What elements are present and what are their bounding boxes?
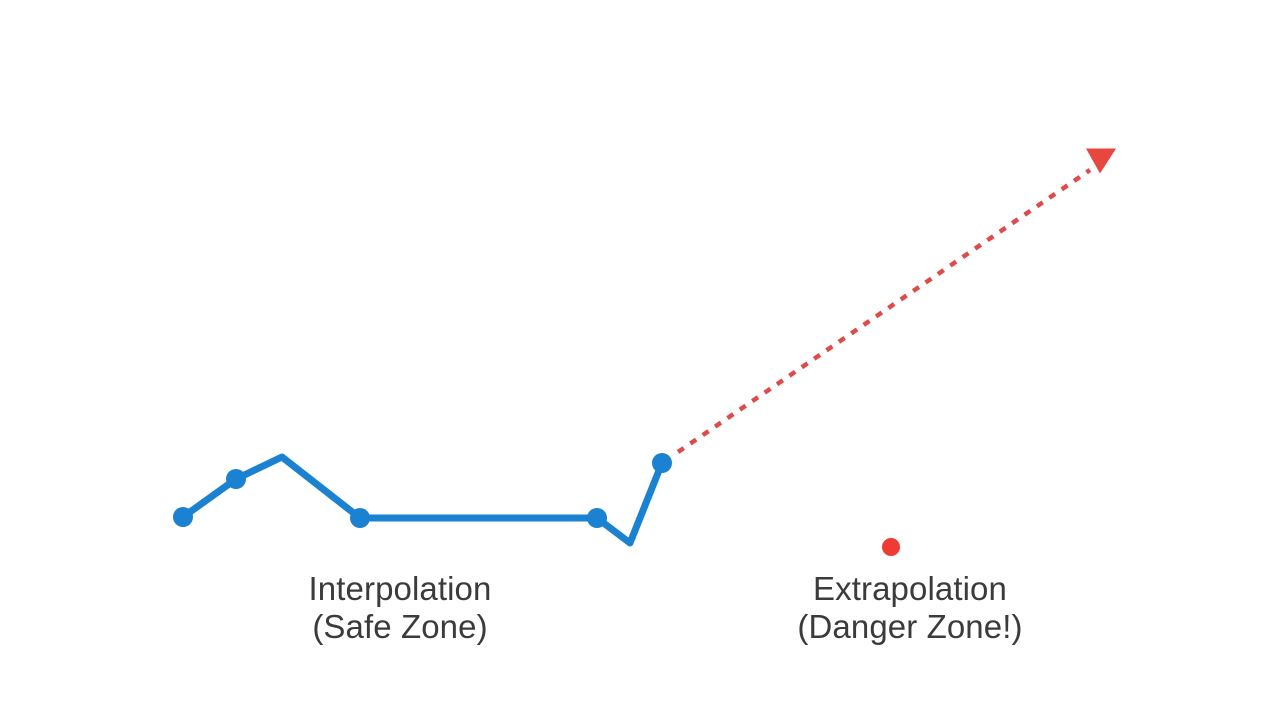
- observed-data-point: [652, 453, 672, 473]
- forecast-trend-dashed-line: [678, 170, 1090, 452]
- observed-data-point: [350, 508, 370, 528]
- extrapolation-label-line1: Extrapolation: [710, 570, 1110, 608]
- forecast-data-point: [882, 538, 900, 556]
- extrapolation-zone-label: Extrapolation (Danger Zone!): [710, 570, 1110, 646]
- observed-data-line: [183, 457, 662, 543]
- observed-data-point: [587, 508, 607, 528]
- observed-data-point: [173, 507, 193, 527]
- interpolation-zone-label: Interpolation (Safe Zone): [200, 570, 600, 646]
- extrapolation-label-line2: (Danger Zone!): [710, 608, 1110, 646]
- chart-canvas: Interpolation (Safe Zone) Extrapolation …: [0, 0, 1280, 720]
- observed-data-point: [226, 469, 246, 489]
- interpolation-label-line2: (Safe Zone): [200, 608, 600, 646]
- interpolation-label-line1: Interpolation: [200, 570, 600, 608]
- forecast-point-marker: [882, 538, 900, 556]
- forecast-arrowhead-icon: [1086, 149, 1116, 174]
